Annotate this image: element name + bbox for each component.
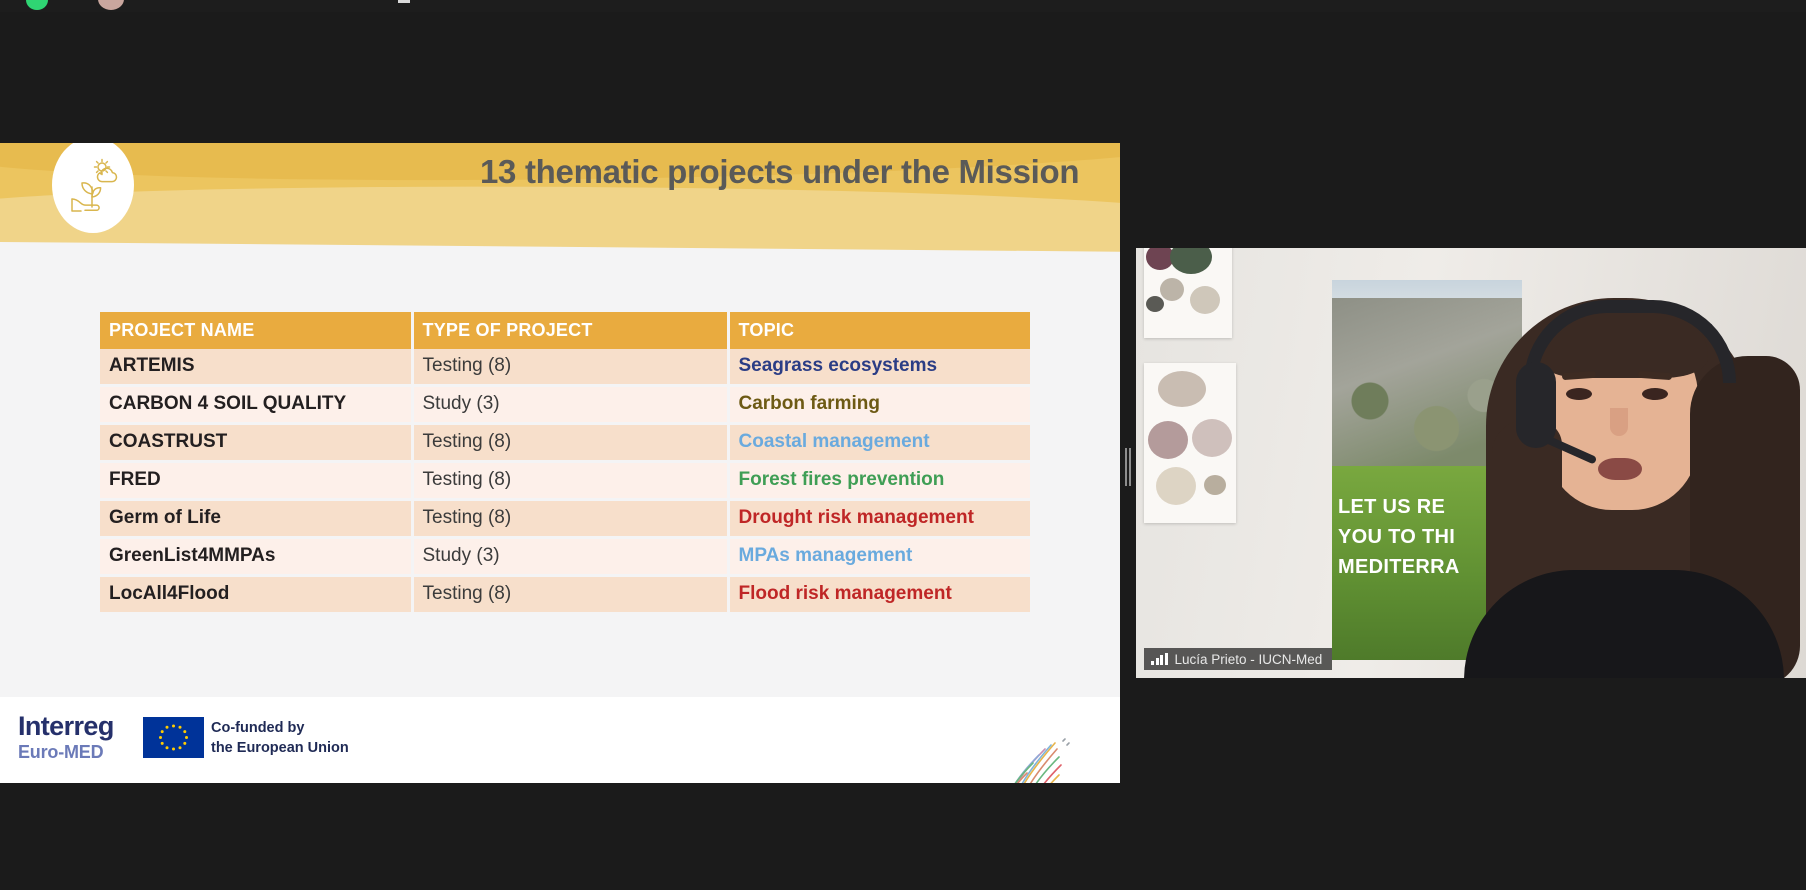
cell-project-name: LocAll4Flood [100, 576, 412, 614]
small-control-icon [398, 0, 410, 3]
top-bar-sliver [0, 0, 1806, 12]
cell-type-of-project: Testing (8) [412, 462, 728, 500]
table-row: FREDTesting (8)Forest fires prevention [100, 462, 1030, 500]
slide-footer: Interreg Euro-MED Co-funded by [0, 697, 1120, 783]
interreg-logo-line1: Interreg [18, 713, 114, 740]
botanical-poster-bottom [1144, 363, 1236, 523]
cell-topic: Forest fires prevention [728, 462, 1030, 500]
avatar-dot-icon [98, 0, 124, 10]
eu-flag-icon [143, 717, 204, 758]
projects-table-body: ARTEMISTesting (8)Seagrass ecosystemsCAR… [100, 349, 1030, 614]
cell-topic: Drought risk management [728, 500, 1030, 538]
interreg-logo-line2: Euro-MED [18, 743, 114, 761]
projects-table: PROJECT NAME TYPE OF PROJECT TOPIC ARTEM… [100, 312, 1030, 615]
eu-funding-line2: the European Union [211, 739, 349, 759]
cell-topic: Carbon farming [728, 386, 1030, 424]
cell-topic: MPAs management [728, 538, 1030, 576]
cell-topic: Seagrass ecosystems [728, 349, 1030, 386]
eu-funding-line1: Co-funded by [211, 719, 349, 739]
participant-name-badge: Lucía Prieto - IUCN-Med [1144, 648, 1332, 670]
table-row: GreenList4MMPAsStudy (3)MPAs management [100, 538, 1030, 576]
interreg-logo: Interreg Euro-MED [18, 713, 114, 761]
table-row: COASTRUSTTesting (8)Coastal management [100, 424, 1030, 462]
botanical-poster-top [1144, 248, 1232, 338]
cell-project-name: COASTRUST [100, 424, 412, 462]
cell-type-of-project: Testing (8) [412, 576, 728, 614]
app-window: 13 thematic projects under the Mission P… [0, 0, 1806, 890]
cell-topic: Coastal management [728, 424, 1030, 462]
cell-project-name: FRED [100, 462, 412, 500]
table-row: LocAll4FloodTesting (8)Flood risk manage… [100, 576, 1030, 614]
cell-type-of-project: Study (3) [412, 538, 728, 576]
green-status-dot-icon [26, 0, 48, 10]
table-row: CARBON 4 SOIL QUALITYStudy (3)Carbon far… [100, 386, 1030, 424]
eu-funding-text: Co-funded by the European Union [211, 719, 349, 758]
cell-type-of-project: Testing (8) [412, 424, 728, 462]
signal-bars-icon [1151, 653, 1168, 665]
slide-title: 13 thematic projects under the Mission [480, 152, 1100, 193]
participant-webcam-image [1458, 270, 1806, 678]
table-row: ARTEMISTesting (8)Seagrass ecosystems [100, 349, 1030, 386]
cell-project-name: GreenList4MMPAs [100, 538, 412, 576]
table-row: Germ of LifeTesting (8)Drought risk mana… [100, 500, 1030, 538]
cell-type-of-project: Study (3) [412, 386, 728, 424]
table-header-row: PROJECT NAME TYPE OF PROJECT TOPIC [100, 312, 1030, 349]
cell-project-name: CARBON 4 SOIL QUALITY [100, 386, 412, 424]
cell-topic: Flood risk management [728, 576, 1030, 614]
column-header-type-of-project: TYPE OF PROJECT [412, 312, 728, 349]
colored-spiral-fingerprint-icon [985, 735, 1081, 783]
cell-project-name: ARTEMIS [100, 349, 412, 386]
shared-slide: 13 thematic projects under the Mission P… [0, 143, 1120, 783]
drag-handle-icon[interactable] [1125, 448, 1132, 486]
cell-type-of-project: Testing (8) [412, 500, 728, 538]
column-header-project-name: PROJECT NAME [100, 312, 412, 349]
column-header-topic: TOPIC [728, 312, 1030, 349]
panel-divider[interactable] [1120, 143, 1136, 783]
participant-name-label: Lucía Prieto - IUCN-Med [1175, 652, 1323, 667]
cell-type-of-project: Testing (8) [412, 349, 728, 386]
cell-project-name: Germ of Life [100, 500, 412, 538]
video-tile-lucia-prieto[interactable]: LET US RE YOU TO THI MEDITERRA Lucía Pri… [1136, 248, 1806, 678]
